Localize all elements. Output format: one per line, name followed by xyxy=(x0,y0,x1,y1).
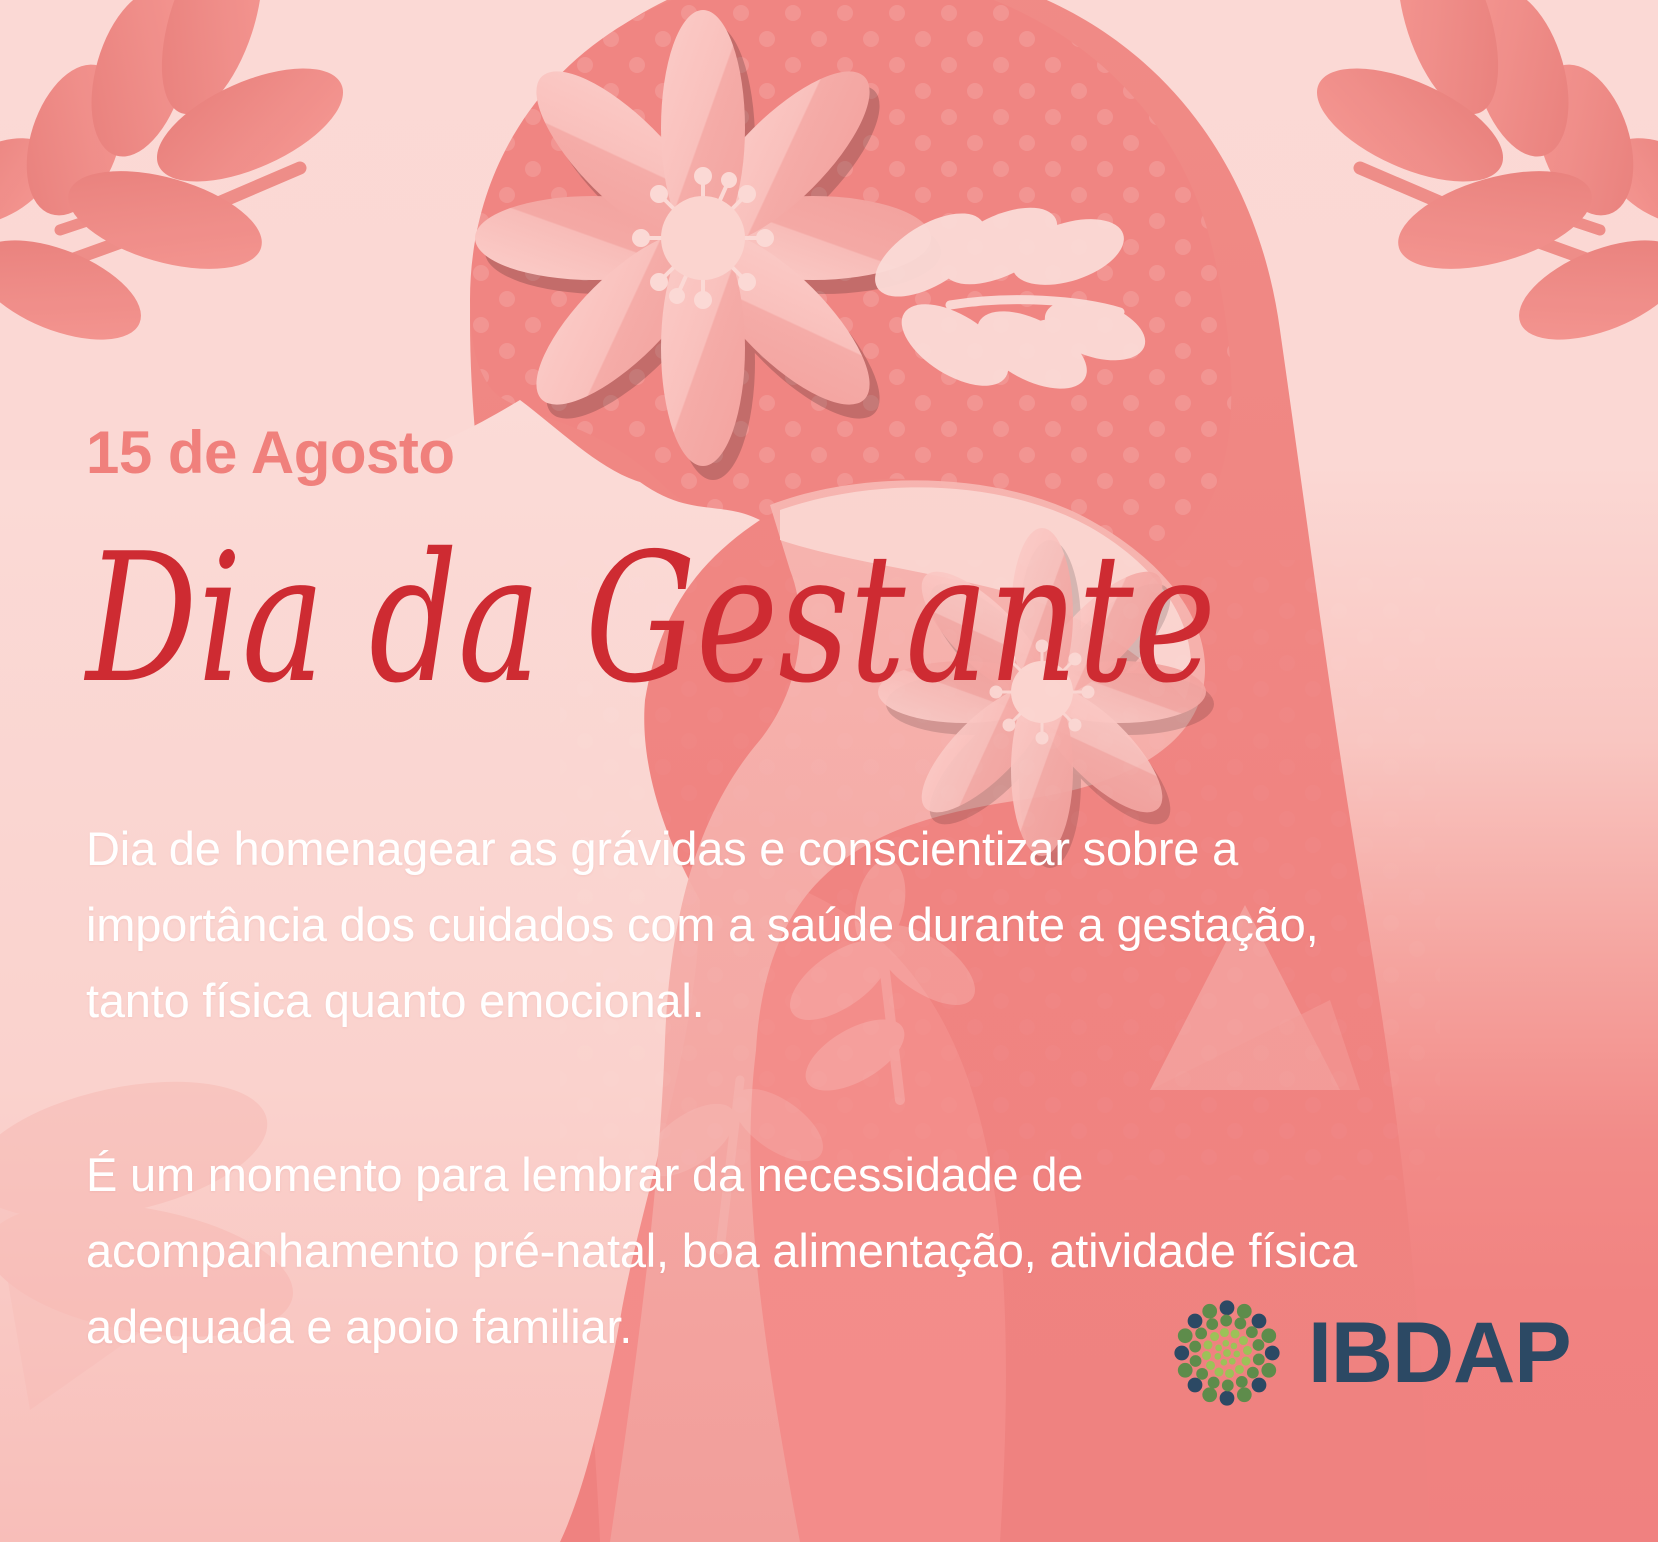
polka-dot-texture xyxy=(560,560,1440,1180)
ibdap-dot-mark-icon xyxy=(1168,1294,1286,1412)
ibdap-wordmark: IBDAP xyxy=(1308,1310,1571,1396)
ibdap-logo[interactable]: IBDAP xyxy=(1168,1294,1571,1412)
leaf-branch-top-left xyxy=(0,0,359,360)
poster-canvas: 15 de Agosto Dia da Gestante Dia de home… xyxy=(0,0,1658,1542)
leaf-branch-top-right xyxy=(1301,0,1658,360)
